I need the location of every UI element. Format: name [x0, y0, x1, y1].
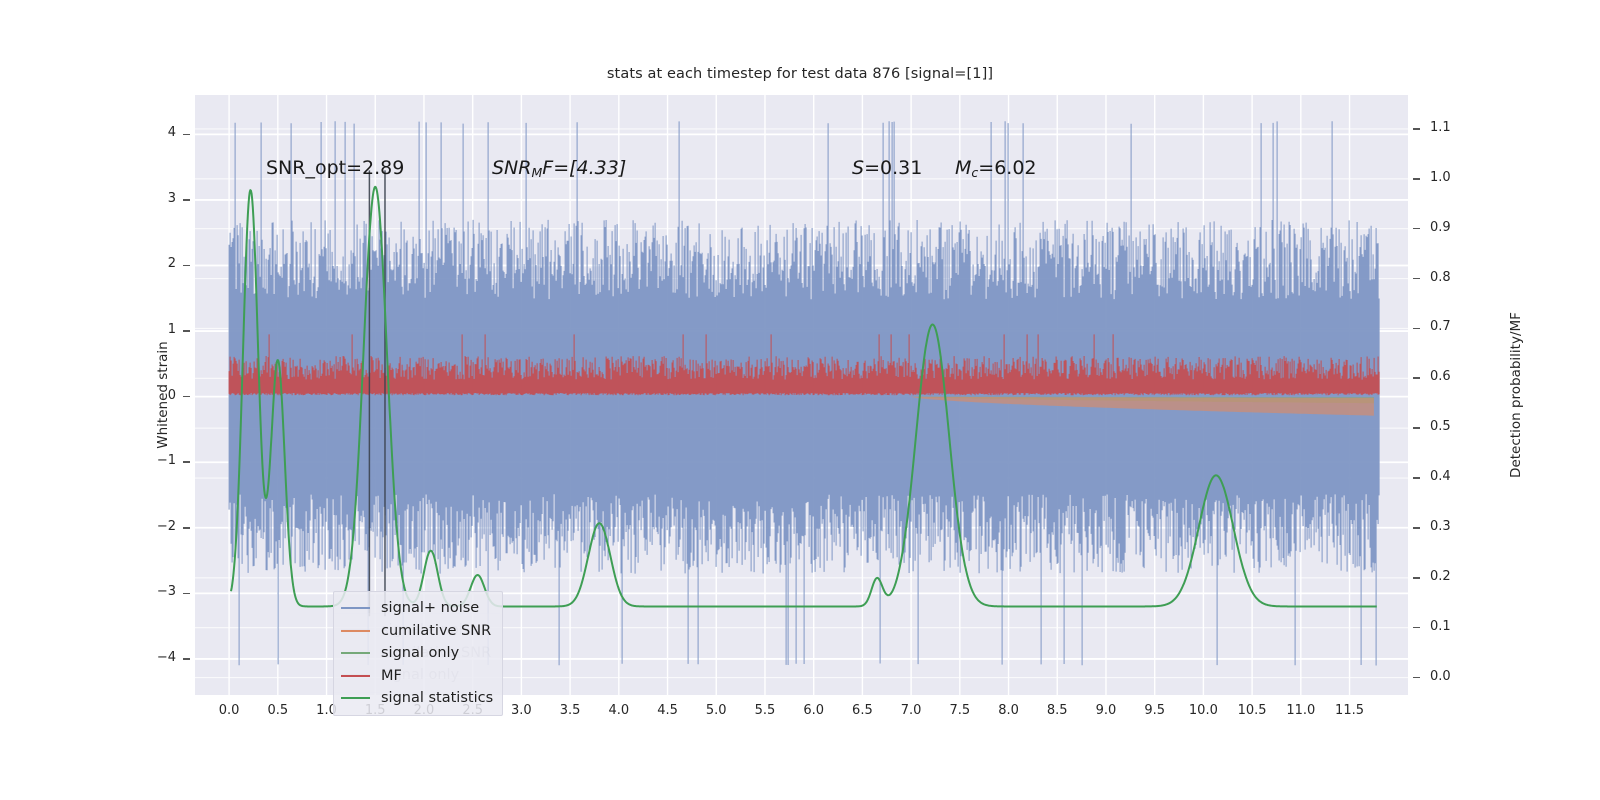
y-tick-label-right: 0.1: [1430, 619, 1480, 634]
annotation-chirp-mass-symbol: M: [955, 157, 971, 179]
legend-item[interactable]: MF: [341, 665, 493, 688]
legend-color-swatch: [341, 607, 370, 609]
legend[interactable]: signal+ noisecumilative SNRsignal onlyMF…: [333, 591, 503, 716]
legend-color-swatch: [341, 630, 370, 632]
y-tick-label-right: 0.0: [1430, 669, 1480, 684]
x-tick-label: 7.5: [932, 703, 988, 718]
legend-item[interactable]: signal statistics: [341, 687, 493, 710]
x-tick-label: 4.5: [640, 703, 696, 718]
annotation-snr-opt-text: SNR_opt=2.89: [266, 157, 404, 179]
y-tick-mark-left: [183, 658, 190, 660]
y-tick-mark-right: [1413, 328, 1420, 330]
annotation-statistic-s: S=0.31: [852, 157, 922, 179]
y-tick-label-right: 1.0: [1430, 170, 1480, 185]
legend-color-swatch: [341, 652, 370, 654]
y-tick-mark-left: [183, 527, 190, 529]
y-tick-label-right: 0.9: [1430, 220, 1480, 235]
x-tick-label: 5.5: [737, 703, 793, 718]
matplotlib-figure: stats at each timestep for test data 876…: [0, 0, 1600, 800]
legend-color-swatch: [341, 675, 370, 677]
y-tick-mark-right: [1413, 477, 1420, 479]
legend-item-label: signal only: [381, 645, 459, 661]
y-tick-mark-right: [1413, 228, 1420, 230]
y-tick-mark-left: [183, 134, 190, 136]
x-tick-label: 11.0: [1273, 703, 1329, 718]
annotation-snr-mf-subscript: M: [531, 165, 542, 180]
y-axis-label-right: Detection probability/MF: [1508, 95, 1524, 695]
x-tick-label: 0.5: [250, 703, 306, 718]
x-tick-label: 8.5: [1029, 703, 1085, 718]
legend-item[interactable]: signal only: [341, 642, 493, 665]
page-title: stats at each timestep for test data 876…: [0, 66, 1600, 82]
y-tick-mark-left: [183, 461, 190, 463]
x-tick-label: 10.0: [1175, 703, 1231, 718]
y-tick-mark-left: [183, 330, 190, 332]
y-tick-mark-right: [1413, 128, 1420, 130]
x-tick-label: 3.5: [542, 703, 598, 718]
y-tick-mark-right: [1413, 377, 1420, 379]
y-tick-mark-left: [183, 593, 190, 595]
y-tick-label-right: 0.5: [1430, 419, 1480, 434]
y-tick-mark-right: [1413, 427, 1420, 429]
legend-item-label: MF: [381, 668, 402, 684]
y-tick-label-left: 3: [120, 191, 176, 206]
x-tick-label: 6.0: [786, 703, 842, 718]
y-tick-mark-right: [1413, 278, 1420, 280]
x-tick-label: 8.0: [981, 703, 1037, 718]
x-tick-label: 6.5: [834, 703, 890, 718]
annotation-chirp-mass-value: =6.02: [978, 157, 1036, 179]
annotation-snr-mf-prefix: SNR: [492, 157, 531, 179]
annotation-snr-opt: SNR_opt=2.89: [266, 157, 404, 179]
annotation-statistic-s-value: =0.31: [864, 157, 922, 179]
y-tick-label-left: −4: [120, 650, 176, 665]
annotation-chirp-mass: Mc=6.02: [955, 157, 1037, 180]
x-tick-label: 5.0: [688, 703, 744, 718]
y-tick-mark-right: [1413, 677, 1420, 679]
legend-color-swatch: [341, 697, 370, 699]
legend-item[interactable]: cumilative SNR: [341, 620, 493, 643]
annotation-statistic-s-symbol: S: [852, 157, 864, 179]
y-tick-label-right: 0.4: [1430, 469, 1480, 484]
y-tick-label-right: 0.2: [1430, 569, 1480, 584]
y-tick-mark-left: [183, 199, 190, 201]
annotation-snr-mf-value: F=[4.33]: [542, 157, 626, 179]
y-tick-mark-right: [1413, 178, 1420, 180]
y-tick-label-left: 1: [120, 322, 176, 337]
y-tick-mark-right: [1413, 527, 1420, 529]
x-tick-label: 9.0: [1078, 703, 1134, 718]
y-tick-label-right: 0.6: [1430, 369, 1480, 384]
y-tick-label-left: 2: [120, 256, 176, 271]
legend-item[interactable]: signal+ noise: [341, 597, 493, 620]
y-tick-mark-left: [183, 396, 190, 398]
x-tick-label: 4.0: [591, 703, 647, 718]
y-tick-label-right: 0.3: [1430, 519, 1480, 534]
x-tick-label: 10.5: [1224, 703, 1280, 718]
legend-item-label: signal statistics: [381, 690, 493, 706]
y-tick-label-left: 0: [120, 388, 176, 403]
legend-item-label: cumilative SNR: [381, 623, 491, 639]
x-tick-label: 11.5: [1322, 703, 1378, 718]
y-tick-label-right: 0.7: [1430, 319, 1480, 334]
legend-item-label: signal+ noise: [381, 600, 479, 616]
y-tick-label-right: 1.1: [1430, 120, 1480, 135]
y-tick-mark-right: [1413, 577, 1420, 579]
y-tick-mark-right: [1413, 627, 1420, 629]
y-tick-label-right: 0.8: [1430, 270, 1480, 285]
y-tick-label-left: −1: [120, 453, 176, 468]
y-tick-label-left: −3: [120, 584, 176, 599]
x-tick-label: 9.5: [1127, 703, 1183, 718]
x-tick-label: 7.0: [883, 703, 939, 718]
y-tick-label-left: −2: [120, 519, 176, 534]
y-tick-label-left: 4: [120, 125, 176, 140]
y-tick-mark-left: [183, 265, 190, 267]
x-tick-label: 0.0: [201, 703, 257, 718]
annotation-snr-mf: SNRMF=[4.33]: [492, 157, 626, 180]
